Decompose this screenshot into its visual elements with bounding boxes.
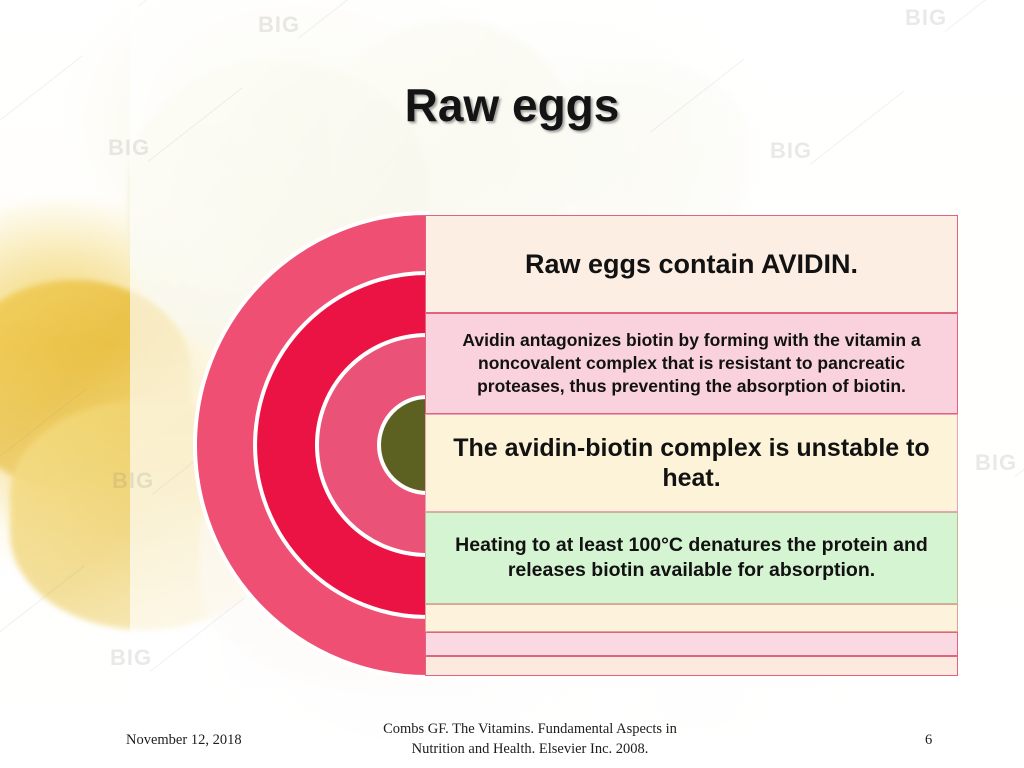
footer-citation-line-1: Combs GF. The Vitamins. Fundamental Aspe… [330, 720, 730, 740]
stock-watermark: BIG [258, 12, 300, 38]
band-label: Avidin antagonizes biotin by forming wit… [440, 329, 943, 397]
band-statement-4: Heating to at least 100°C denatures the … [425, 512, 958, 604]
band-empty-6 [425, 632, 958, 656]
band-statement-1: Raw eggs contain AVIDIN. [425, 215, 958, 313]
band-statement-2: Avidin antagonizes biotin by forming wit… [425, 313, 958, 414]
footer-date: November 12, 2018 [126, 732, 242, 749]
band-statement-3: The avidin-biotin complex is unstable to… [425, 414, 958, 512]
page-title: Raw eggs [0, 78, 1024, 132]
slide-canvas: BIGBIGBIGBIGBIGBIGBIG Raw eggs Raw eggs … [0, 0, 1024, 768]
footer-citation-line-2: Nutrition and Health. Elsevier Inc. 2008… [330, 740, 730, 760]
text-bands-panel: Raw eggs contain AVIDIN. Avidin antagoni… [425, 215, 958, 676]
band-label: The avidin-biotin complex is unstable to… [440, 433, 943, 494]
stock-watermark: BIG [770, 138, 812, 164]
stock-watermark: BIG [108, 135, 150, 161]
footer-page-number: 6 [925, 732, 932, 749]
band-empty-5 [425, 604, 958, 632]
stock-watermark: BIG [975, 450, 1017, 476]
band-empty-7 [425, 656, 958, 676]
band-label: Raw eggs contain AVIDIN. [525, 249, 858, 280]
footer-citation: Combs GF. The Vitamins. Fundamental Aspe… [330, 720, 730, 759]
stock-watermark: BIG [112, 468, 154, 494]
stock-watermark: BIG [905, 5, 947, 31]
band-label: Heating to at least 100°C denatures the … [440, 533, 943, 584]
stock-watermark: BIG [110, 645, 152, 671]
